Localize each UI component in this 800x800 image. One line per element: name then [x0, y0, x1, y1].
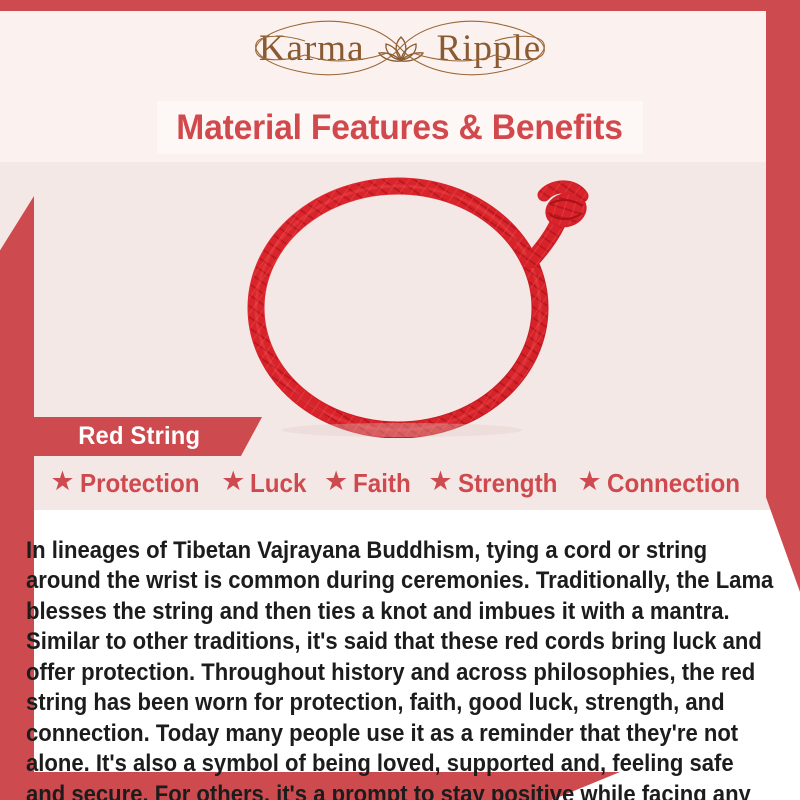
frame-bar-right — [766, 0, 800, 592]
description-paragraph: In lineages of Tibetan Vajrayana Buddhis… — [26, 536, 774, 800]
benefit-label: Protection — [80, 468, 200, 499]
benefit-item-faith: ★ Faith — [324, 468, 415, 499]
star-icon: ★ — [324, 468, 348, 495]
benefit-item-connection: ★ Connection — [577, 468, 749, 499]
material-label: Red String — [78, 422, 200, 451]
star-icon: ★ — [221, 468, 245, 495]
star-icon: ★ — [577, 468, 601, 495]
page-title: Material Features & Benefits — [177, 108, 624, 148]
benefit-item-strength: ★ Strength — [428, 468, 564, 499]
brand-logo: Karma Ripple — [0, 28, 800, 68]
description-block: In lineages of Tibetan Vajrayana Buddhis… — [26, 512, 774, 800]
product-image — [170, 168, 640, 438]
benefits-list: ★ Protection ★ Luck ★ Faith ★ Strength ★… — [28, 464, 772, 502]
lotus-icon — [375, 28, 427, 68]
brand-name-left: Karma — [259, 30, 365, 67]
benefit-label: Faith — [353, 468, 411, 499]
benefit-item-protection: ★ Protection — [50, 468, 208, 499]
star-icon: ★ — [428, 468, 452, 495]
benefit-label: Luck — [250, 468, 306, 499]
benefit-label: Strength — [458, 468, 557, 499]
benefit-label: Connection — [607, 468, 740, 499]
infographic-card: Karma Ripple Material Features & Benefit… — [0, 0, 800, 800]
benefit-item-luck: ★ Luck — [221, 468, 311, 499]
brand-name-right: Ripple — [437, 30, 542, 67]
red-bracelet-illustration — [170, 168, 640, 438]
frame-bar-top — [0, 0, 800, 11]
title-banner: Material Features & Benefits — [157, 101, 643, 154]
material-label-banner: Red String — [28, 417, 262, 456]
star-icon: ★ — [50, 468, 74, 495]
